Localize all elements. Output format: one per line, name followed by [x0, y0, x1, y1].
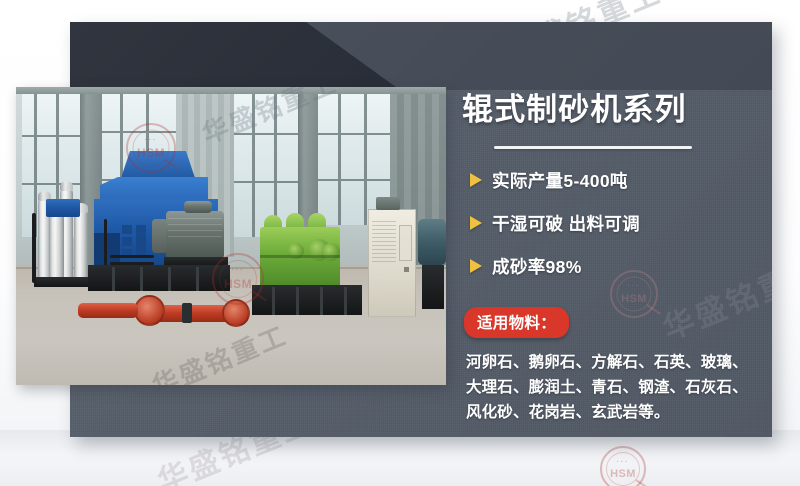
arrow-right-icon	[470, 173, 482, 187]
feature-list: 实际产量5-400吨 干湿可破 出料可调 成砂率98%	[462, 168, 767, 279]
product-title: 辊式制砂机系列	[462, 92, 767, 128]
feature-item-label: 成砂率98%	[492, 254, 582, 279]
product-info-content: 辊式制砂机系列 实际产量5-400吨 干湿可破 出料可调 成砂率98% 适用物料…	[462, 92, 767, 425]
product-photo-scene: 华盛铭重工 华盛铭重工 ··· HSM ··· HSM	[16, 87, 446, 385]
product-photo: 华盛铭重工 华盛铭重工 ··· HSM ··· HSM	[16, 87, 446, 385]
feature-item-label: 干湿可破 出料可调	[492, 211, 640, 236]
feature-item: 干湿可破 出料可调	[470, 211, 767, 236]
feature-item: 实际产量5-400吨	[470, 168, 767, 193]
photo-shading	[16, 87, 446, 385]
arrow-right-icon	[470, 216, 482, 230]
feature-item: 成砂率98%	[470, 254, 767, 279]
product-banner: 华盛铭重工 华盛铭重工 ··· HSM 华盛铭重工 华盛铭重工 ··· HSM	[0, 0, 800, 486]
materials-badge: 适用物料：	[464, 307, 569, 338]
page-bottom-sheen	[0, 430, 800, 486]
feature-item-label: 实际产量5-400吨	[492, 168, 628, 193]
title-divider	[494, 146, 692, 149]
materials-list-text: 河卵石、鹅卵石、方解石、石英、玻璃、大理石、膨润土、青石、钢渣、石灰石、风化砂、…	[466, 350, 758, 425]
arrow-right-icon	[470, 259, 482, 273]
